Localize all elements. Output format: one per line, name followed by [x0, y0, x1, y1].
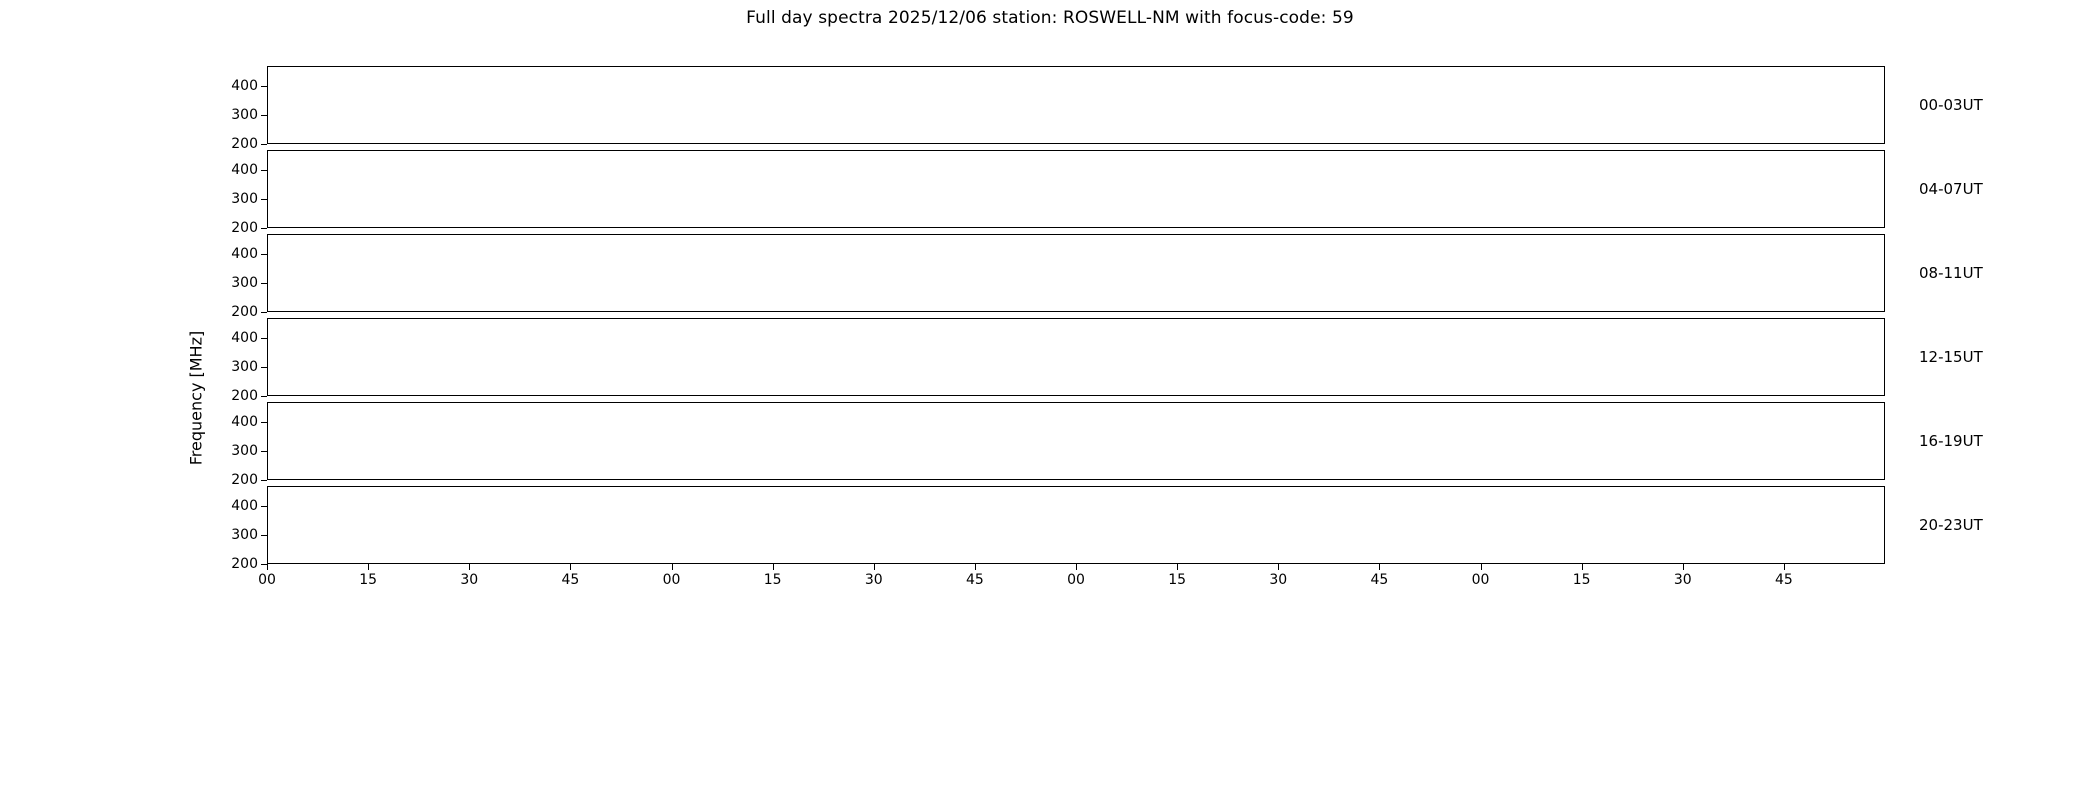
x-tick-label: 45 — [561, 572, 579, 588]
row-time-label: 12-15UT — [1919, 348, 1983, 366]
y-tick-label: 200 — [231, 136, 258, 152]
spectrogram-figure: Full day spectra 2025/12/06 station: ROS… — [0, 0, 2100, 800]
x-tick-label: 15 — [1168, 572, 1186, 588]
y-tick — [261, 170, 267, 171]
spectrogram-row: 20030040000-03UT — [267, 66, 1885, 144]
x-tick — [570, 564, 571, 570]
row-time-label: 04-07UT — [1919, 180, 1983, 198]
spectrogram-row: 20030040012-15UT — [267, 318, 1885, 396]
x-tick — [1683, 564, 1684, 570]
x-tick — [267, 564, 268, 570]
y-tick — [261, 338, 267, 339]
row-frame — [267, 150, 1885, 228]
y-tick — [261, 312, 267, 313]
y-tick — [261, 144, 267, 145]
y-tick — [261, 86, 267, 87]
y-tick-label: 400 — [231, 330, 258, 346]
x-tick — [1076, 564, 1077, 570]
x-tick — [469, 564, 470, 570]
y-tick — [261, 422, 267, 423]
row-frame — [267, 318, 1885, 396]
x-tick-label: 45 — [966, 572, 984, 588]
x-tick-label: 00 — [663, 572, 681, 588]
y-tick-label: 300 — [231, 191, 258, 207]
y-tick-label: 200 — [231, 472, 258, 488]
spectrogram-row: 20030040008-11UT — [267, 234, 1885, 312]
y-tick-label: 400 — [231, 498, 258, 514]
y-tick — [261, 367, 267, 368]
x-tick-label: 30 — [865, 572, 883, 588]
y-tick — [261, 283, 267, 284]
y-tick — [261, 228, 267, 229]
x-tick — [368, 564, 369, 570]
y-tick-label: 200 — [231, 220, 258, 236]
x-tick-label: 45 — [1370, 572, 1388, 588]
x-tick — [1481, 564, 1482, 570]
row-time-label: 00-03UT — [1919, 96, 1983, 114]
x-tick — [1278, 564, 1279, 570]
y-axis-label: Frequency [MHz] — [187, 331, 206, 465]
y-tick-label: 200 — [231, 556, 258, 572]
x-tick-label: 00 — [1067, 572, 1085, 588]
y-tick-label: 200 — [231, 388, 258, 404]
y-tick-label: 300 — [231, 107, 258, 123]
spectrogram-row: 20030040020-23UT001530450015304500153045… — [267, 486, 1885, 564]
x-tick — [1582, 564, 1583, 570]
y-tick — [261, 254, 267, 255]
spectrogram-row: 20030040004-07UT — [267, 150, 1885, 228]
x-tick — [1784, 564, 1785, 570]
row-frame — [267, 402, 1885, 480]
y-tick — [261, 535, 267, 536]
y-tick-label: 300 — [231, 359, 258, 375]
x-tick-label: 00 — [258, 572, 276, 588]
row-frame — [267, 66, 1885, 144]
y-tick-label: 400 — [231, 414, 258, 430]
x-tick-label: 30 — [1674, 572, 1692, 588]
y-tick-label: 300 — [231, 527, 258, 543]
x-tick-label: 00 — [1472, 572, 1490, 588]
row-time-label: 16-19UT — [1919, 432, 1983, 450]
y-tick — [261, 115, 267, 116]
figure-title: Full day spectra 2025/12/06 station: ROS… — [0, 8, 2100, 28]
x-tick-label: 45 — [1775, 572, 1793, 588]
y-tick — [261, 396, 267, 397]
spectrogram-row: 20030040016-19UT — [267, 402, 1885, 480]
y-tick-label: 200 — [231, 304, 258, 320]
row-frame — [267, 234, 1885, 312]
row-time-label: 08-11UT — [1919, 264, 1983, 282]
x-tick-label: 30 — [460, 572, 478, 588]
x-tick — [672, 564, 673, 570]
y-tick-label: 300 — [231, 275, 258, 291]
x-tick — [874, 564, 875, 570]
x-tick — [773, 564, 774, 570]
x-tick-label: 15 — [359, 572, 377, 588]
row-frame — [267, 486, 1885, 564]
y-tick-label: 400 — [231, 246, 258, 262]
row-time-label: 20-23UT — [1919, 516, 1983, 534]
y-tick-label: 400 — [231, 78, 258, 94]
x-tick — [975, 564, 976, 570]
y-tick — [261, 199, 267, 200]
x-tick-label: 30 — [1269, 572, 1287, 588]
y-tick — [261, 506, 267, 507]
x-tick — [1379, 564, 1380, 570]
x-tick-label: 15 — [764, 572, 782, 588]
x-tick — [1177, 564, 1178, 570]
x-tick-label: 15 — [1573, 572, 1591, 588]
y-tick-label: 400 — [231, 162, 258, 178]
y-tick — [261, 480, 267, 481]
y-tick-label: 300 — [231, 443, 258, 459]
y-tick — [261, 451, 267, 452]
